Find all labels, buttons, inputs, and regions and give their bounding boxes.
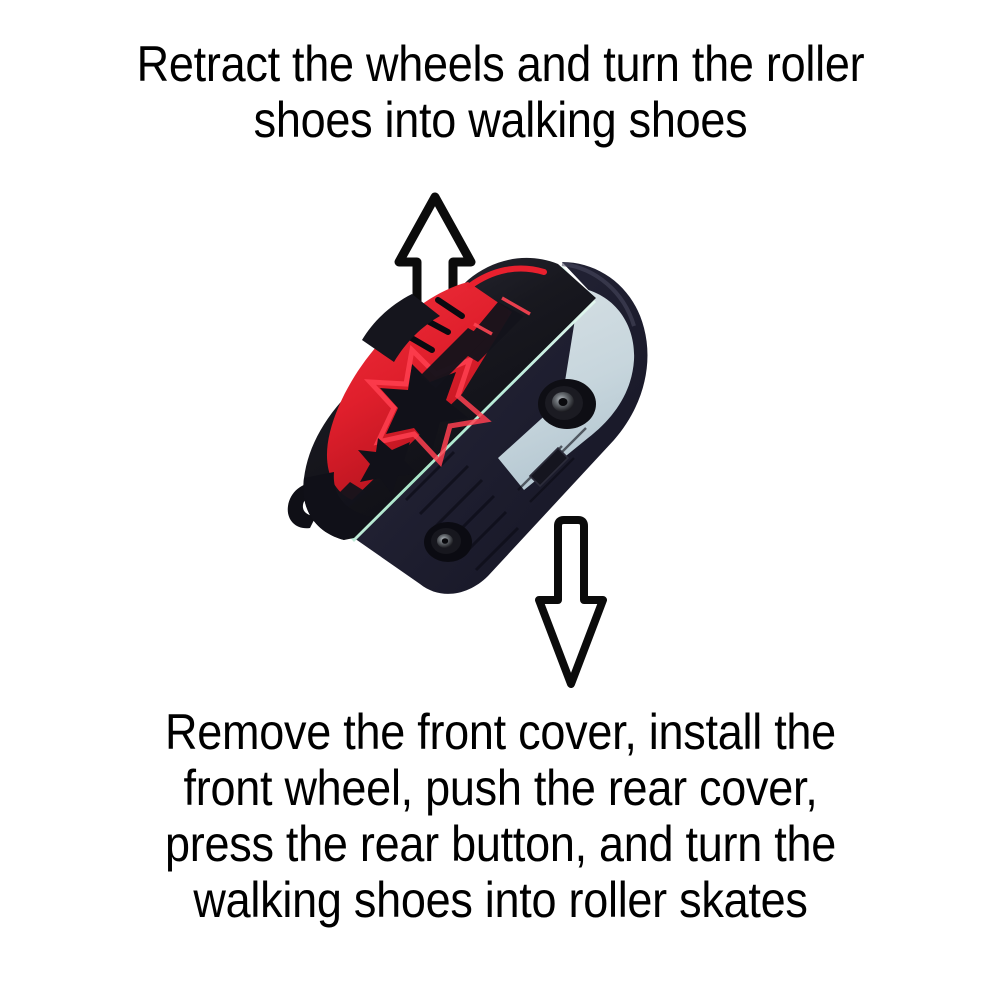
top-instruction-text: Retract the wheels and turn the roller s… xyxy=(50,36,951,148)
bottom-instruction-text: Remove the front cover, install the fron… xyxy=(50,704,951,928)
shoe-wheel-rear xyxy=(538,379,596,429)
shoe-wheel-front xyxy=(424,522,472,562)
led-roller-shoe-photo xyxy=(262,232,682,614)
product-instruction-image: Retract the wheels and turn the roller s… xyxy=(0,0,1001,1001)
